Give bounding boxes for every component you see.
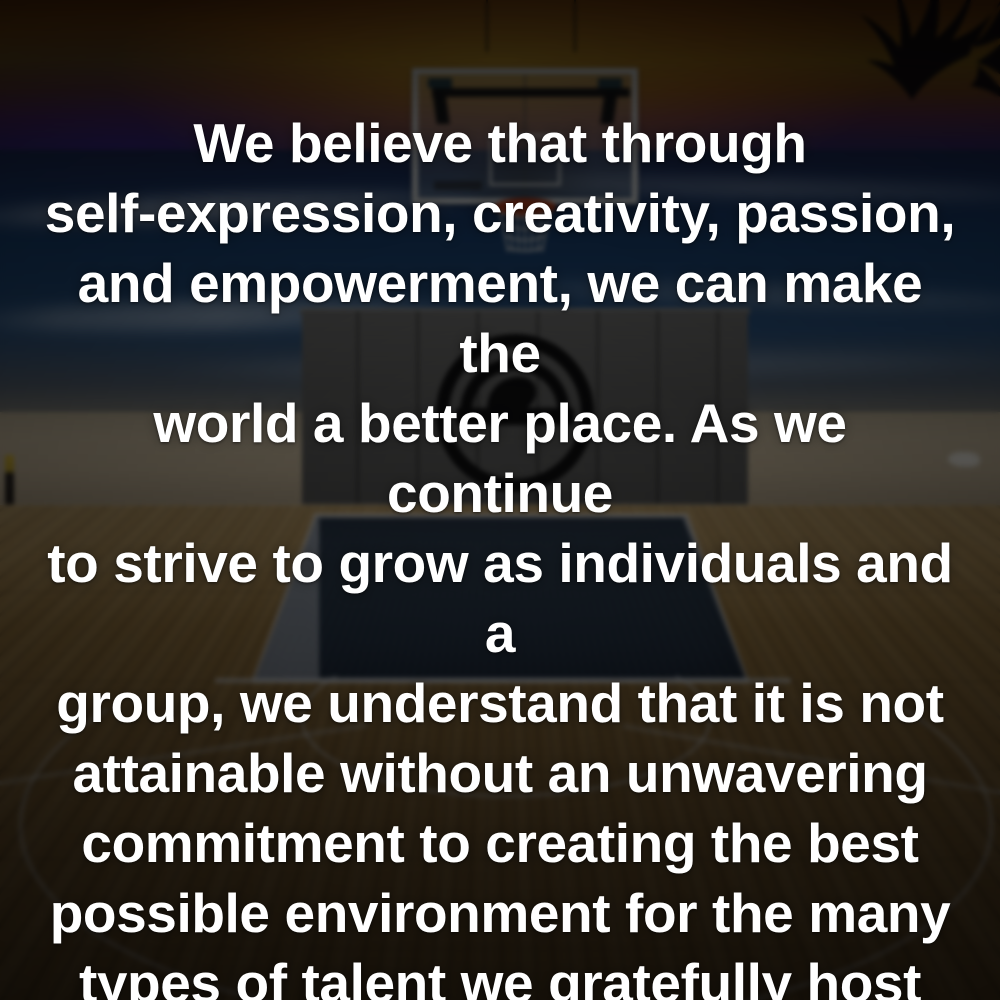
quote-text: We believe that through self-expression,… <box>0 108 1000 1000</box>
backboard-clip <box>598 78 622 88</box>
hoop-cable <box>486 0 488 52</box>
image-canvas: We believe that through self-expression,… <box>0 0 1000 1000</box>
backboard-clip <box>428 78 452 88</box>
backboard-truss <box>432 88 630 97</box>
hoop-cable <box>574 0 576 52</box>
